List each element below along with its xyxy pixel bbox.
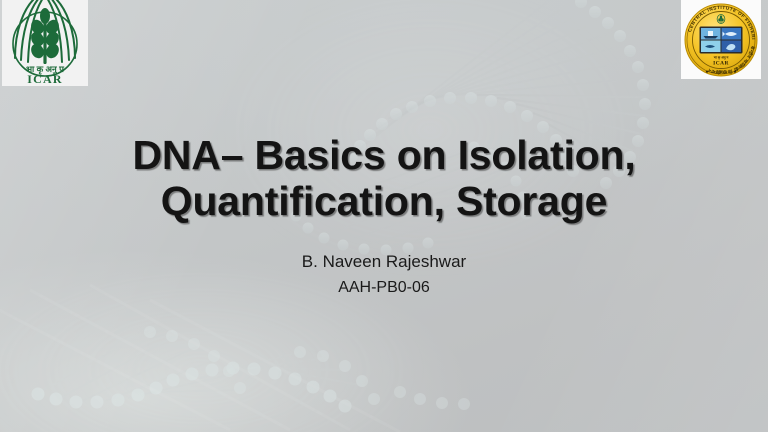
title-line-2: Quantification, Storage: [161, 178, 607, 224]
page-title: DNA– Basics on Isolation, Quantification…: [0, 132, 768, 224]
cife-logo: CENTRAL INSTITUTE OF FISHERIES EDUCATION…: [681, 0, 761, 79]
svg-text:ICAR: ICAR: [713, 61, 729, 67]
svg-text:1961: 1961: [716, 71, 727, 76]
icar-logo: भा कृ अनु प ICAR: [2, 0, 88, 86]
title-line-1: DNA– Basics on Isolation,: [132, 132, 635, 178]
roll-number: AAH-PB0-06: [0, 275, 768, 301]
svg-text:भा कृ अनु प: भा कृ अनु प: [714, 56, 729, 60]
svg-text:ICAR: ICAR: [27, 72, 62, 86]
author-name: B. Naveen Rajeshwar: [0, 249, 768, 275]
slide-text-block: DNA– Basics on Isolation, Quantification…: [0, 132, 768, 301]
subtitle-block: B. Naveen Rajeshwar AAH-PB0-06: [0, 249, 768, 301]
title-slide: भा कृ अनु प ICAR CENTRAL IN: [0, 0, 768, 432]
